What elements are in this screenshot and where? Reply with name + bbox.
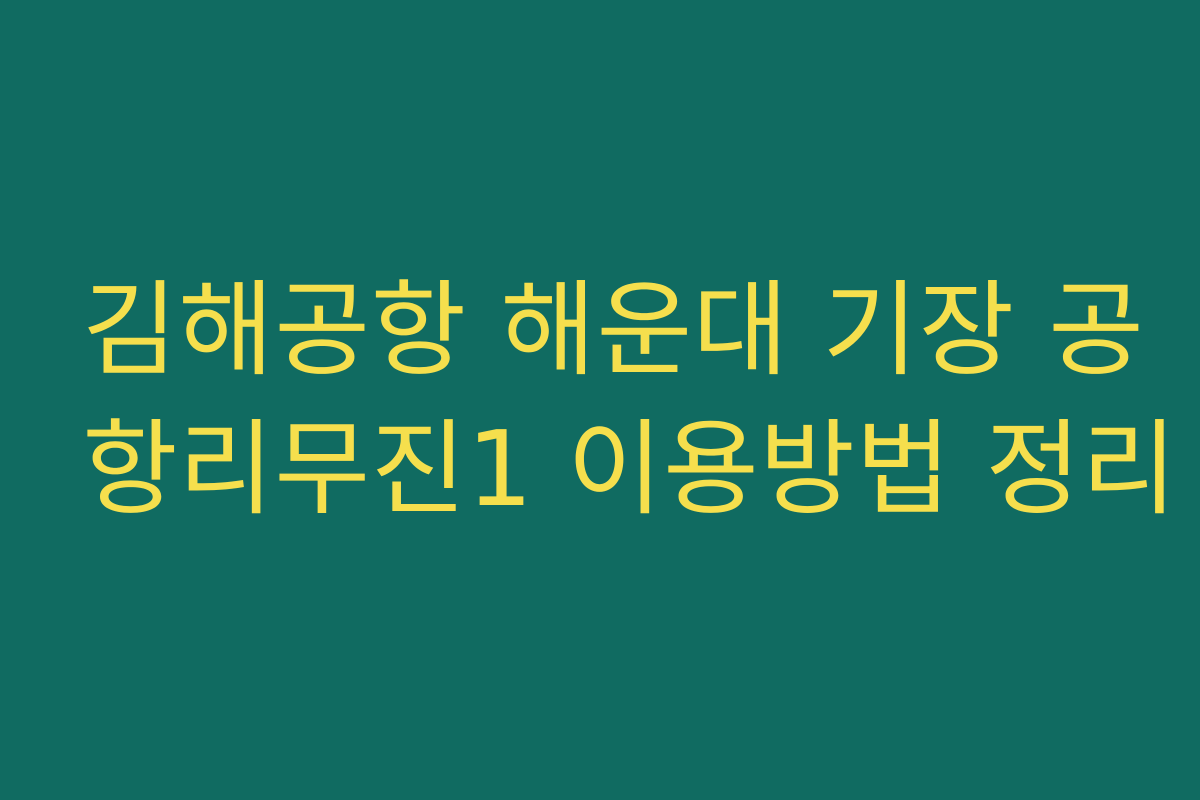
title-line-2: 항리무진1 이용방법 정리 <box>82 400 1178 539</box>
thumbnail-canvas: 김해공항 해운대 기장 공 항리무진1 이용방법 정리 <box>0 0 1200 800</box>
title-line-1: 김해공항 해운대 기장 공 <box>82 261 1144 400</box>
title-block: 김해공항 해운대 기장 공 항리무진1 이용방법 정리 <box>82 0 1132 800</box>
